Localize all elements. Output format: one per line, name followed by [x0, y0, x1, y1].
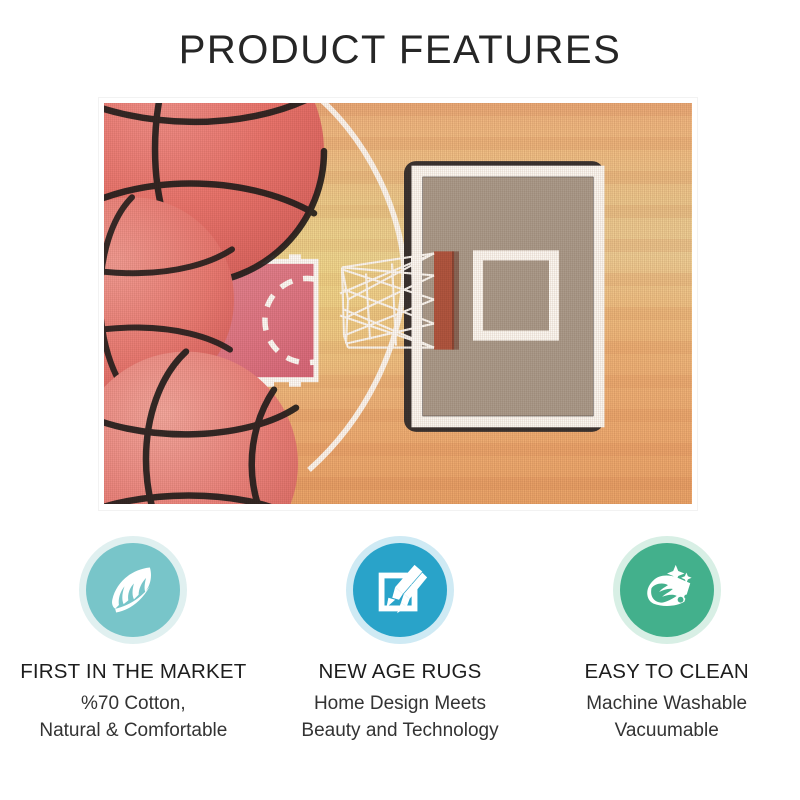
cleaning-hand-icon	[636, 559, 698, 621]
feather-badge-disc	[86, 543, 180, 637]
court-graphics	[104, 103, 692, 504]
feature-title-2: NEW AGE RUGS	[319, 660, 482, 684]
clean-badge-disc	[620, 543, 714, 637]
feature-badge-1	[79, 536, 187, 644]
feature-subtitle-2: Home Design Meets Beauty and Technology	[301, 691, 498, 745]
feature-list: FIRST IN THE MARKET %70 Cotton, Natural …	[0, 536, 800, 745]
product-image	[99, 98, 697, 510]
feature-first-in-the-market: FIRST IN THE MARKET %70 Cotton, Natural …	[0, 536, 267, 745]
feature-new-age-rugs: NEW AGE RUGS Home Design Meets Beauty an…	[267, 536, 534, 745]
page-title: PRODUCT FEATURES	[0, 28, 800, 72]
basketball-court-rug	[104, 103, 692, 504]
feather-icon	[103, 560, 163, 620]
basketball-hoop	[340, 161, 604, 432]
feature-badge-2	[346, 536, 454, 644]
feature-easy-to-clean: EASY TO CLEAN Machine Washable Vacuumabl…	[533, 536, 800, 745]
feature-subtitle-2-line-2: Beauty and Technology	[301, 718, 498, 745]
feature-subtitle-3-line-1: Machine Washable	[586, 691, 747, 718]
feature-subtitle-3: Machine Washable Vacuumable	[586, 691, 747, 745]
feature-subtitle-1: %70 Cotton, Natural & Comfortable	[39, 691, 227, 745]
feature-title-1: FIRST IN THE MARKET	[20, 660, 246, 684]
feature-badge-3	[613, 536, 721, 644]
feature-subtitle-2-line-1: Home Design Meets	[301, 691, 498, 718]
feature-subtitle-1-line-1: %70 Cotton,	[39, 691, 227, 718]
design-tools-icon	[369, 559, 431, 621]
feature-title-3: EASY TO CLEAN	[584, 660, 748, 684]
feature-subtitle-1-line-2: Natural & Comfortable	[39, 718, 227, 745]
feature-subtitle-3-line-2: Vacuumable	[586, 718, 747, 745]
design-badge-disc	[353, 543, 447, 637]
